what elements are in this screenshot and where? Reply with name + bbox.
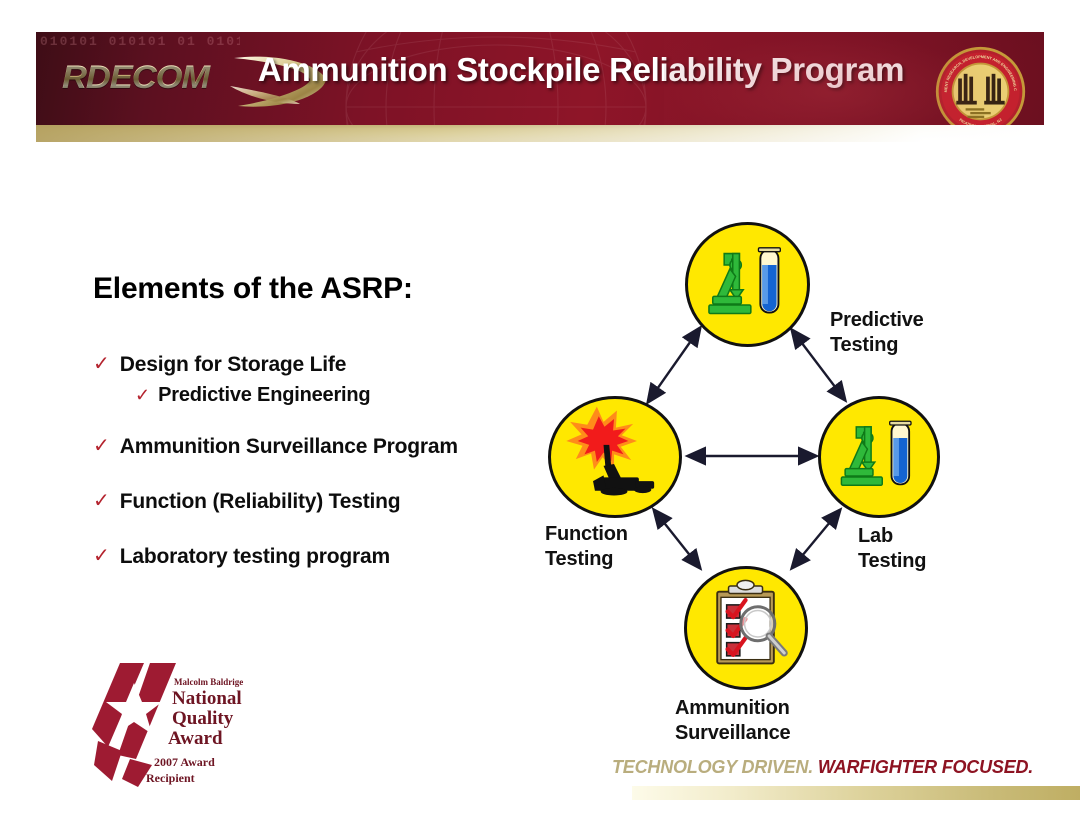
- diagram-node-predictive-testing[interactable]: [685, 222, 810, 347]
- diagram-node-label-function-testing: Function Testing: [545, 522, 628, 572]
- microscope-test-tube-icon: [821, 399, 937, 515]
- diagram-node-label-lab-testing: Lab Testing: [858, 524, 926, 574]
- list-item: ✓ Ammunition Surveillance Program: [93, 434, 563, 459]
- mortar-explosion-icon: [551, 399, 679, 516]
- label-line-2: Testing: [858, 549, 926, 574]
- award-line2: National: [172, 688, 242, 709]
- label-line-1: Function: [545, 522, 628, 547]
- list-item-label: Ammunition Surveillance Program: [120, 434, 458, 459]
- label-line-1: Predictive: [830, 308, 924, 333]
- connector-lab-ammunition: [792, 510, 840, 568]
- diagram-node-lab-testing[interactable]: [818, 396, 940, 518]
- label-line-2: Surveillance: [675, 721, 790, 746]
- check-mark-icon: ✓: [93, 435, 110, 457]
- list-item: ✓ Design for Storage Life: [93, 352, 563, 377]
- diagram-node-ammunition-surveillance[interactable]: [684, 566, 808, 690]
- check-mark-icon: ✓: [135, 384, 150, 406]
- award-line4: Award: [168, 728, 223, 749]
- list-item-label: Design for Storage Life: [120, 352, 346, 377]
- svg-text:ARMAMENT RESEARCH, DEVELOPMENT: ARMAMENT RESEARCH, DEVELOPMENT AND ENGIN…: [934, 45, 1017, 92]
- tagline-part-warfighter-focused: WARFIGHTER FOCUSED.: [818, 757, 1033, 777]
- check-mark-icon: ✓: [93, 490, 110, 512]
- list-item-label: Laboratory testing program: [120, 544, 390, 569]
- tagline-part-technology-driven: TECHNOLOGY DRIVEN.: [612, 757, 813, 777]
- slide-header-band: 010101 010101 01 010101010101 01 RDECOM: [36, 32, 1044, 125]
- header-gold-rule: [36, 125, 1044, 142]
- label-line-1: Lab: [858, 524, 926, 549]
- diagram-node-label-ammunition-surveillance: Ammunition Surveillance: [675, 696, 790, 746]
- microscope-test-tube-icon: [688, 225, 807, 344]
- ardec-seal-icon: ARMAMENT RESEARCH, DEVELOPMENT AND ENGIN…: [934, 45, 1027, 125]
- footer-gold-bar: [632, 786, 1080, 800]
- list-item: ✓ Laboratory testing program: [93, 544, 563, 569]
- clipboard-magnifier-icon: [687, 569, 805, 687]
- bullet-list: ✓ Design for Storage Life ✓ Predictive E…: [93, 352, 563, 591]
- list-item-label: Function (Reliability) Testing: [120, 489, 401, 514]
- check-mark-icon: ✓: [93, 545, 110, 567]
- list-item: ✓ Predictive Engineering: [135, 383, 563, 408]
- section-title: Elements of the ASRP:: [93, 272, 413, 306]
- award-line5: 2007 Award: [154, 755, 215, 769]
- svg-text:PICATINNY ARSENAL, NJ: PICATINNY ARSENAL, NJ: [958, 118, 1002, 125]
- check-mark-icon: ✓: [93, 353, 110, 375]
- asrp-cycle-diagram: Predictive Testing: [520, 200, 1080, 800]
- label-line-1: Ammunition: [675, 696, 790, 721]
- page-title: Ammunition Stockpile Reliability Program: [236, 50, 926, 90]
- diagram-node-function-testing[interactable]: [548, 396, 682, 518]
- label-line-2: Testing: [545, 547, 628, 572]
- footer-tagline: TECHNOLOGY DRIVEN. WARFIGHTER FOCUSED.: [612, 757, 1033, 778]
- baldrige-award-logo: Malcolm Baldrige National Quality Award …: [92, 655, 257, 790]
- slide-canvas: 010101 010101 01 010101010101 01 RDECOM: [0, 0, 1080, 826]
- award-line6: Recipient: [146, 771, 195, 785]
- list-item-label: Predictive Engineering: [158, 383, 370, 408]
- connector-ammunition-function: [654, 510, 700, 568]
- award-line1: Malcolm Baldrige: [174, 677, 243, 687]
- list-item: ✓ Function (Reliability) Testing: [93, 489, 563, 514]
- explosion-burst: [566, 407, 637, 470]
- diagram-node-label-predictive-testing: Predictive Testing: [830, 308, 924, 358]
- award-line3: Quality: [172, 708, 234, 729]
- label-line-2: Testing: [830, 333, 924, 358]
